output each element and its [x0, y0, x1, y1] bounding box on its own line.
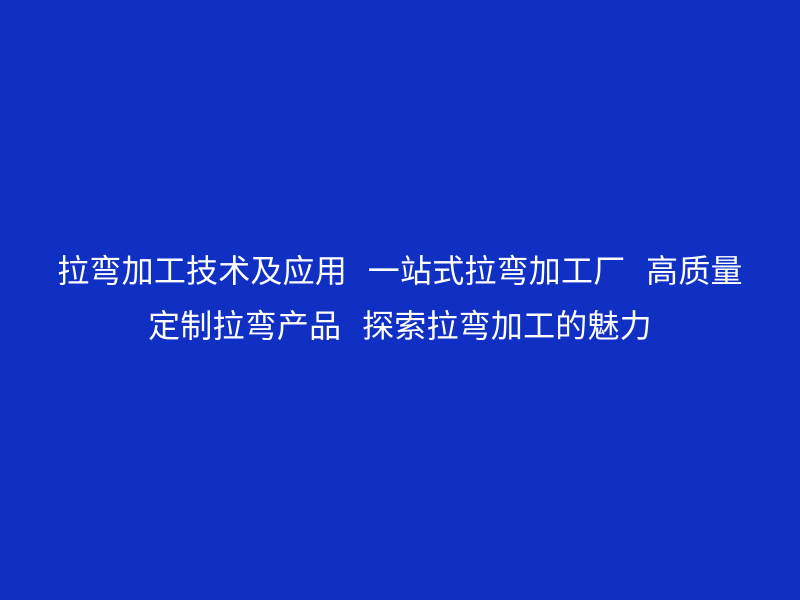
- headline-phrase-2: 一站式拉弯加工厂: [368, 252, 626, 290]
- headline-phrase-4: 探索拉弯加工的魅力: [362, 307, 652, 345]
- headline-separator-1: [347, 252, 368, 290]
- banner-root: 拉弯加工技术及应用 一站式拉弯加工厂 高质量定制拉弯产品 探索拉弯加工的魅力: [0, 0, 800, 600]
- headline-phrase-1: 拉弯加工技术及应用: [57, 252, 347, 290]
- headline-separator-2: [625, 252, 646, 290]
- page-title: 拉弯加工技术及应用 一站式拉弯加工厂 高质量定制拉弯产品 探索拉弯加工的魅力: [50, 244, 750, 354]
- headline-separator-3: [341, 307, 362, 345]
- headline-block: 拉弯加工技术及应用 一站式拉弯加工厂 高质量定制拉弯产品 探索拉弯加工的魅力: [50, 244, 750, 354]
